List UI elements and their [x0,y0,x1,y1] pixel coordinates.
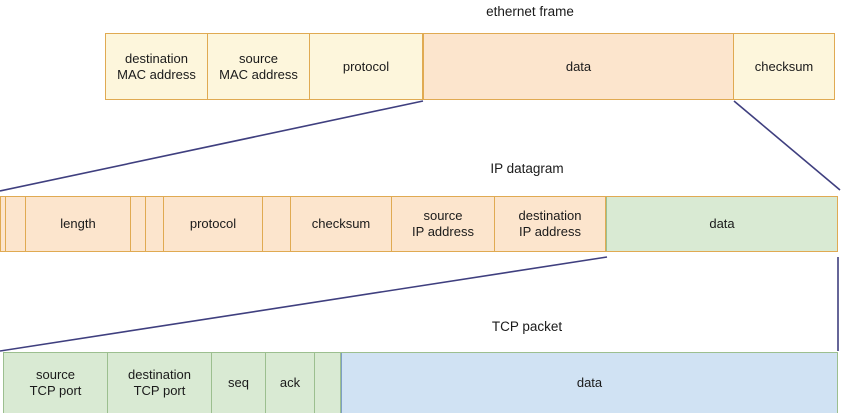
ip-cell-ttl [263,197,291,251]
tcp-cell-source-tcp-port: source TCP port [4,353,108,413]
tcp-cell-destination-tcp-port: destination TCP port [108,353,212,413]
tcp-cell-data: data [341,353,837,413]
ip-datagram-title: IP datagram [0,162,841,176]
protocol-encapsulation-diagram: ethernet frame destination MAC address s… [0,0,841,413]
ip-cell-protocol: protocol [164,197,263,251]
tcp-packet-band: source TCP port destination TCP port seq… [3,352,838,413]
tcp-cell-flags [315,353,341,413]
tcp-cell-seq: seq [212,353,266,413]
ip-cell-source-ip-address: source IP address [392,197,495,251]
ip-cell-data: data [606,197,837,251]
connector-ethernet-data-left [0,101,423,191]
ip-cell-flags [146,197,164,251]
ethernet-cell-protocol: protocol [310,34,423,99]
connector-ip-data-left [0,257,607,351]
ethernet-cell-data: data [423,34,734,99]
ip-cell-header-length [6,197,26,251]
ethernet-cell-destination-mac-address: destination MAC address [106,34,208,99]
tcp-packet-title: TCP packet [0,320,841,334]
ethernet-cell-checksum: checksum [734,34,834,99]
connector-ethernet-data-right [734,101,840,190]
ethernet-frame-title: ethernet frame [0,5,841,19]
ip-datagram-band: length protocol checksum source IP addre… [0,196,838,252]
ethernet-cell-source-mac-address: source MAC address [208,34,310,99]
ethernet-frame-band: destination MAC address source MAC addre… [105,33,835,100]
ip-cell-identification [131,197,146,251]
ip-cell-checksum: checksum [291,197,392,251]
ip-cell-destination-ip-address: destination IP address [495,197,606,251]
ip-cell-length: length [26,197,131,251]
tcp-cell-ack: ack [266,353,315,413]
